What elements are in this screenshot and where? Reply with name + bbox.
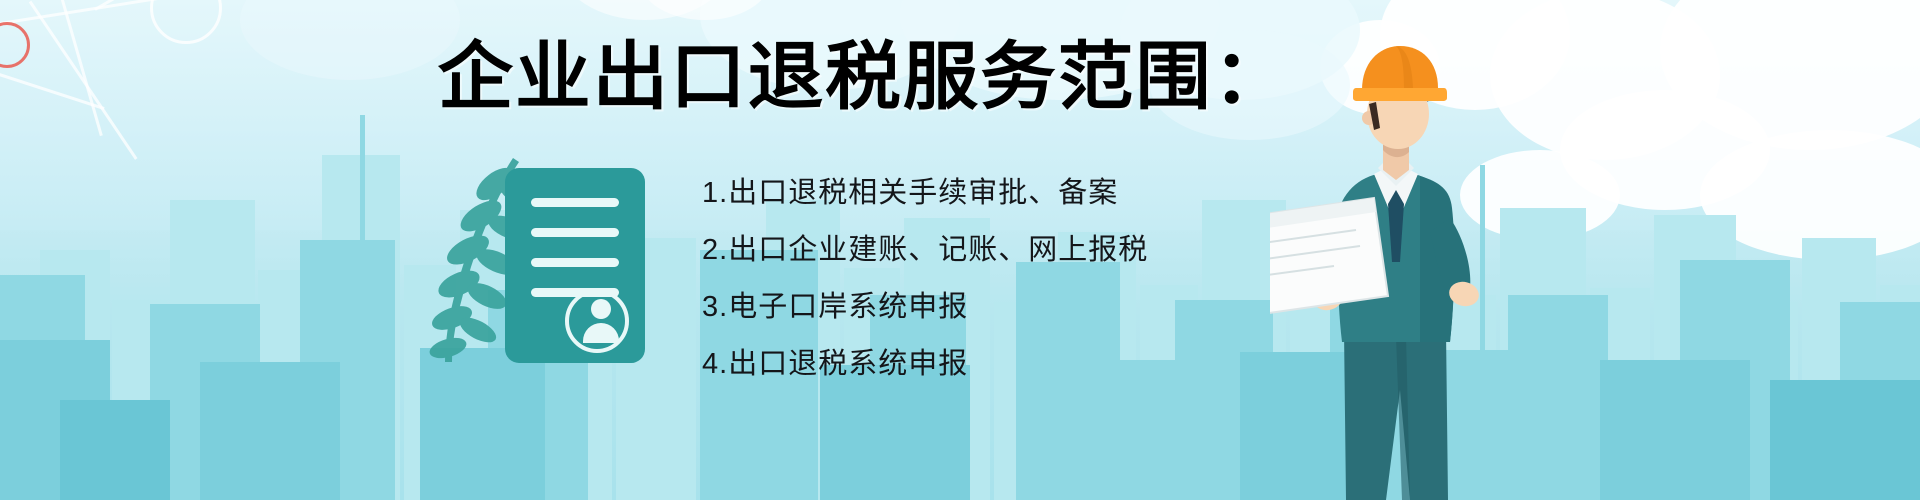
export-tax-rebate-banner: 企业出口退税服务范围： 1.出口退税相关手续审批、备案 2.出口企业建账、记账、… <box>0 0 1920 500</box>
building <box>1770 380 1920 500</box>
list-item-number: 2. <box>702 234 728 266</box>
certificate-document-icon <box>505 168 655 368</box>
list-item-number: 3. <box>702 291 728 323</box>
list-item-number: 1. <box>702 177 728 209</box>
banner-title: 企业出口退税服务范围： <box>438 40 1291 114</box>
building <box>1600 360 1750 500</box>
list-item: 2.出口企业建账、记账、网上报税 <box>702 235 1262 265</box>
building <box>420 348 545 500</box>
building <box>200 362 340 500</box>
list-item-label: 电子口岸系统申报 <box>728 289 968 323</box>
list-item-label: 出口企业建账、记账、网上报税 <box>728 232 1148 266</box>
building <box>60 400 170 500</box>
list-item-number: 4. <box>702 348 728 380</box>
service-scope-list: 1.出口退税相关手续审批、备案 2.出口企业建账、记账、网上报税 3.电子口岸系… <box>702 178 1262 406</box>
list-item: 4.出口退税系统申报 <box>702 349 1262 379</box>
list-item-label: 出口退税相关手续审批、备案 <box>728 175 1118 209</box>
list-item: 1.出口退税相关手续审批、备案 <box>702 178 1262 208</box>
list-item: 3.电子口岸系统申报 <box>702 292 1262 322</box>
businessman-illustration <box>1270 30 1530 500</box>
list-item-label: 出口退税系统申报 <box>728 346 968 380</box>
